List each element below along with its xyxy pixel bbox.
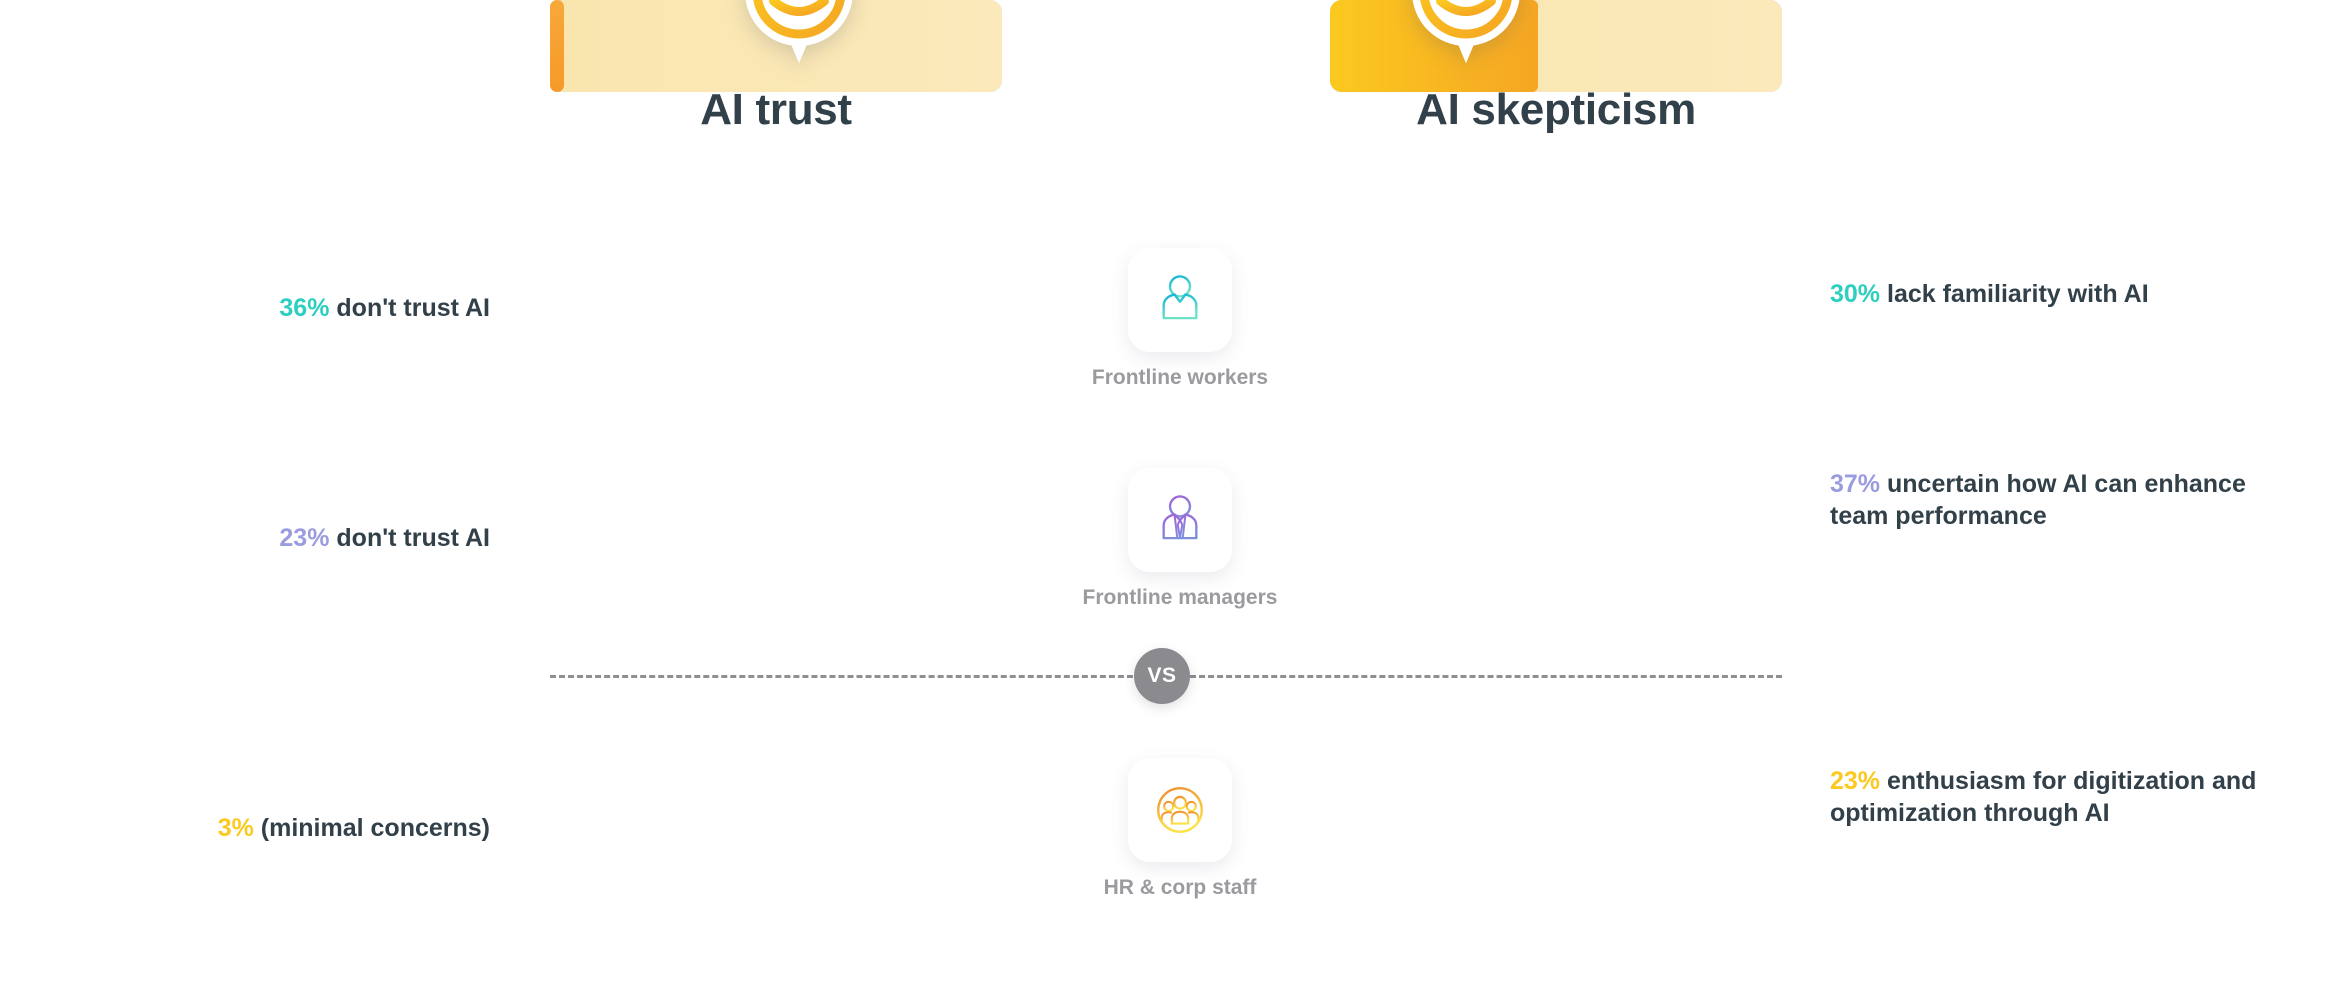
right-pct-row-0: 30%: [1830, 280, 1880, 308]
page-title-ai-trust: AI trust: [550, 85, 1002, 135]
role-column-2: HR & corp staff: [1055, 758, 1305, 900]
role-label-1: Frontline managers: [1055, 586, 1305, 610]
left-pct-row-1: 23%: [279, 524, 329, 552]
bar-fill: [550, 0, 564, 92]
page-title-ai-skepticism: AI skepticism: [1330, 85, 1782, 135]
role-label-0: Frontline workers: [1055, 366, 1305, 390]
role-tile-frontline-managers[interactable]: [1128, 468, 1232, 572]
marker-left-row-2[interactable]: [745, 0, 853, 66]
role-column-1: Frontline managers: [1055, 468, 1305, 610]
right-text-row-0: lack familiarity with AI: [1880, 280, 2149, 308]
role-tile-hr-corp-staff[interactable]: [1128, 758, 1232, 862]
left-label-row-2: 3% (minimal concerns): [150, 812, 490, 844]
worker-person-icon: [1151, 271, 1209, 329]
right-text-row-1: uncertain how AI can enhance team perfor…: [1830, 470, 2246, 530]
group-people-icon: [1151, 781, 1209, 839]
left-pct-row-0: 36%: [279, 294, 329, 322]
right-label-row-1: 37% uncertain how AI can enhance team pe…: [1830, 468, 2270, 532]
right-text-row-2: enthusiasm for digitization and optimiza…: [1830, 767, 2256, 827]
right-pct-row-2: 23%: [1830, 767, 1880, 795]
marker-right-row-2[interactable]: [1412, 0, 1520, 66]
right-label-row-2: 23% enthusiasm for digitization and opti…: [1830, 765, 2270, 829]
left-label-row-0: 36% don't trust AI: [150, 292, 490, 324]
left-text-row-2: (minimal concerns): [254, 814, 490, 842]
left-text-row-1: don't trust AI: [329, 524, 490, 552]
manager-person-icon: [1151, 491, 1209, 549]
left-text-row-0: don't trust AI: [329, 294, 490, 322]
bar-right-row-2[interactable]: [1330, 0, 1782, 92]
right-pct-row-1: 37%: [1830, 470, 1880, 498]
left-label-row-1: 23% don't trust AI: [150, 522, 490, 554]
left-pct-row-2: 3%: [218, 814, 254, 842]
infographic-canvas: AI trust AI skepticism 36% don't trust A…: [0, 0, 2340, 1000]
role-label-2: HR & corp staff: [1055, 876, 1305, 900]
bar-left-row-2[interactable]: [550, 0, 1002, 92]
right-label-row-0: 30% lack familiarity with AI: [1830, 278, 2270, 310]
vs-badge: VS: [1134, 648, 1190, 704]
role-tile-frontline-workers[interactable]: [1128, 248, 1232, 352]
role-column-0: Frontline workers: [1055, 248, 1305, 390]
